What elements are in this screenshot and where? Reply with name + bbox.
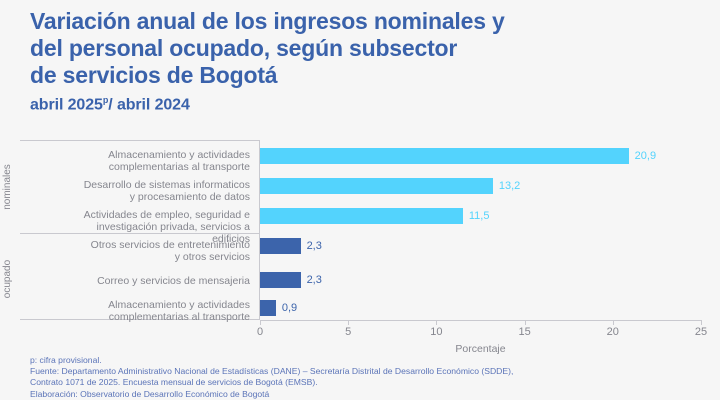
x-axis-tick-label: 10 [430, 326, 442, 338]
category-label-panel: Ingresos nominales Personal ocupado Alma… [20, 140, 260, 320]
category-labels: Almacenamiento y actividades complementa… [62, 141, 254, 321]
x-axis-tick-label: 20 [607, 326, 619, 338]
bar-personal-correo-mensajeria[interactable] [260, 272, 301, 288]
x-axis-line [260, 320, 701, 321]
subtitle-period-start: abril 2025 [30, 96, 103, 113]
bar-value: 11,5 [469, 209, 490, 223]
bar-personal-almacenamiento[interactable] [260, 300, 276, 316]
bar-personal-entretenimiento[interactable] [260, 238, 301, 254]
category-label: Almacenamiento y actividades complementa… [60, 299, 250, 323]
category-label: Correo y servicios de mensajeria [60, 275, 250, 287]
category-label: Otros servicios de entretenimiento y otr… [60, 239, 250, 263]
footnote-line: Elaboración: Observatorio de Desarrollo … [30, 389, 700, 400]
footnote-line: p: cifra provisional. [30, 355, 700, 366]
x-axis-tick [348, 320, 349, 325]
page-subtitle: abril 2025p/ abril 2024 [30, 95, 650, 114]
bar-ingresos-sistemas-informaticos[interactable] [260, 178, 493, 194]
x-axis-tick [260, 320, 261, 325]
category-label: Almacenamiento y actividades complementa… [60, 149, 250, 173]
x-axis-tick [525, 320, 526, 325]
footnote-line: Contrato 1071 de 2025. Encuesta mensual … [30, 377, 700, 388]
footnote-line: Fuente: Departamento Administrativo Naci… [30, 366, 700, 377]
x-axis-tick-label: 25 [695, 326, 707, 338]
x-axis-tick-label: 15 [518, 326, 530, 338]
bar-chart: Ingresos nominales Personal ocupado Alma… [20, 140, 704, 320]
bar-value: 20,9 [635, 149, 656, 163]
x-axis-title: Porcentaje [260, 343, 701, 355]
bar-ingresos-almacenamiento[interactable] [260, 148, 629, 164]
group-label-ingresos-nominales: Ingresos nominales [0, 141, 14, 233]
subtitle-period-end: / abril 2024 [108, 96, 190, 113]
footnotes: p: cifra provisional. Fuente: Departamen… [30, 355, 700, 400]
x-axis-tick-label: 5 [345, 326, 351, 338]
group-label-personal-ocupado: Personal ocupado [0, 233, 14, 325]
x-axis-tick-label: 0 [257, 326, 263, 338]
bar-value: 2,3 [307, 273, 322, 287]
title-block: Variación anual de los ingresos nominale… [30, 8, 650, 114]
bar-value: 0,9 [282, 301, 297, 315]
page-title: Variación anual de los ingresos nominale… [30, 8, 650, 89]
bar-value: 13,2 [499, 179, 520, 193]
x-axis-tick [613, 320, 614, 325]
x-axis-tick [701, 320, 702, 325]
x-axis-tick [436, 320, 437, 325]
bar-value: 2,3 [307, 239, 322, 253]
category-label: Desarrollo de sistemas informaticos y pr… [60, 179, 250, 203]
bar-ingresos-empleo-seguridad[interactable] [260, 208, 463, 224]
plot-area: 20,9 13,2 11,5 2,3 2,3 0,9 [260, 140, 704, 320]
